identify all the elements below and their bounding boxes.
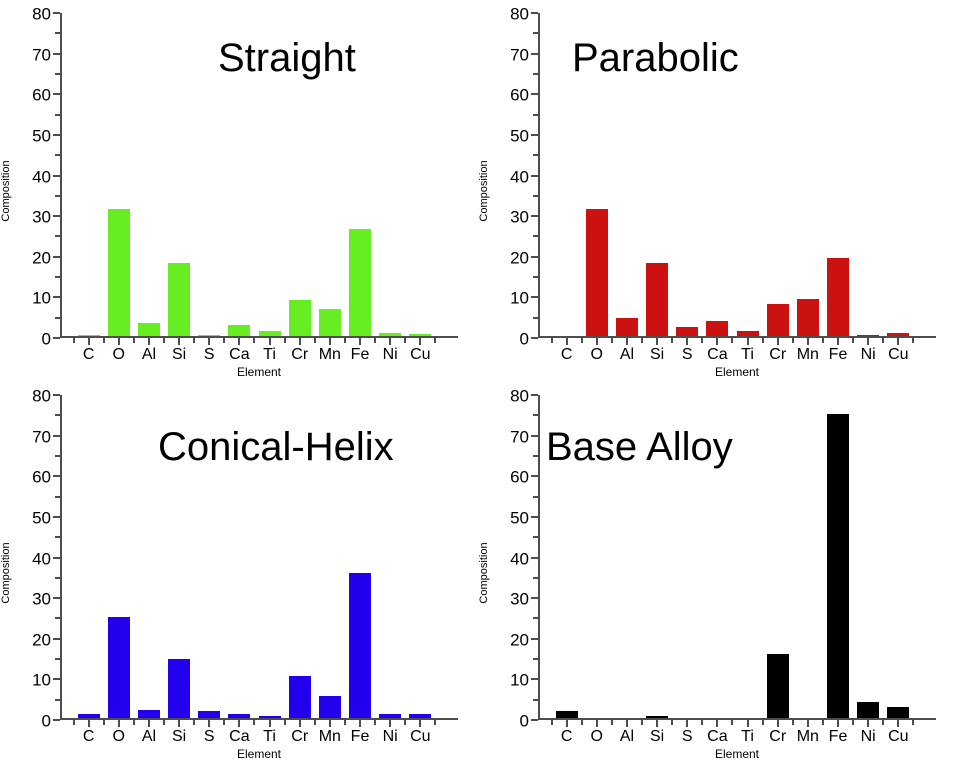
y-axis-tick-label: 0 bbox=[520, 331, 529, 348]
x-axis-category-label: Si bbox=[172, 728, 186, 746]
x-axis-tick-minor bbox=[822, 720, 824, 725]
x-axis-tick-minor bbox=[73, 338, 75, 343]
x-axis-category-label: C bbox=[83, 346, 95, 364]
y-axis-tick-major bbox=[53, 93, 60, 95]
x-axis-category-label: O bbox=[591, 728, 603, 746]
x-axis-tick-minor bbox=[611, 338, 613, 343]
x-axis-tick-major bbox=[897, 338, 899, 345]
y-axis-tick-major bbox=[531, 53, 538, 55]
y-axis-tick-label: 20 bbox=[32, 631, 51, 648]
bar bbox=[319, 309, 341, 336]
x-axis-tick-minor bbox=[284, 720, 286, 725]
x-axis-tick-major bbox=[626, 720, 628, 727]
x-axis-category-label: Ca bbox=[229, 346, 249, 364]
y-axis-tick-label: 40 bbox=[510, 168, 529, 185]
x-axis-tick-minor bbox=[434, 720, 436, 725]
bar bbox=[228, 325, 250, 336]
x-axis-tick-major bbox=[867, 720, 869, 727]
x-axis-category-label: S bbox=[204, 728, 215, 746]
y-axis-tick-label: 10 bbox=[510, 290, 529, 307]
x-axis-tick-minor bbox=[882, 720, 884, 725]
bar bbox=[887, 333, 909, 336]
y-axis-title: Composition bbox=[478, 160, 490, 221]
x-axis-tick-major bbox=[777, 720, 779, 727]
y-axis-tick-major bbox=[53, 175, 60, 177]
x-axis-tick-minor bbox=[551, 338, 553, 343]
y-axis-tick-major bbox=[53, 638, 60, 640]
x-axis-category-label: Ti bbox=[263, 346, 276, 364]
y-axis-tick-label: 40 bbox=[32, 168, 51, 185]
bar bbox=[409, 714, 431, 718]
y-axis-tick-label: 60 bbox=[32, 87, 51, 104]
x-axis-category-label: Fe bbox=[351, 346, 370, 364]
y-axis-tick-major bbox=[53, 337, 60, 339]
y-axis-tick-label: 70 bbox=[510, 46, 529, 63]
bar bbox=[108, 209, 130, 336]
x-axis-tick-major bbox=[716, 720, 718, 727]
figure-four-panel-bar-charts: StraightCompositionElementCOAlSiSCaTiCrM… bbox=[0, 0, 956, 764]
x-axis-tick-minor bbox=[671, 720, 673, 725]
x-axis-tick-major bbox=[208, 720, 210, 727]
x-axis-tick-minor bbox=[701, 338, 703, 343]
x-axis-category-label: Mn bbox=[797, 728, 819, 746]
y-axis-tick-major bbox=[531, 256, 538, 258]
x-axis-category-label: Mn bbox=[797, 346, 819, 364]
bar bbox=[259, 331, 281, 336]
y-axis-tick-major bbox=[531, 93, 538, 95]
x-axis-category-label: Cu bbox=[888, 728, 908, 746]
x-axis-tick-minor bbox=[581, 720, 583, 725]
y-axis-tick-label: 0 bbox=[42, 713, 51, 730]
x-axis-category-label: S bbox=[682, 346, 693, 364]
y-axis-tick-major bbox=[531, 12, 538, 14]
x-axis-tick-major bbox=[329, 720, 331, 727]
y-axis-tick-label: 60 bbox=[510, 469, 529, 486]
y-axis-title: Composition bbox=[478, 542, 490, 603]
bar-series bbox=[60, 13, 458, 336]
y-axis-tick-major bbox=[53, 475, 60, 477]
x-axis-tick-major bbox=[238, 720, 240, 727]
x-axis-category-label: Cr bbox=[291, 728, 308, 746]
y-axis-tick-major bbox=[531, 175, 538, 177]
x-axis-tick-minor bbox=[434, 338, 436, 343]
x-axis-tick-minor bbox=[73, 720, 75, 725]
x-axis-tick-minor bbox=[253, 338, 255, 343]
y-axis-tick-label: 60 bbox=[32, 469, 51, 486]
x-axis-tick-major bbox=[807, 720, 809, 727]
y-axis-tick-label: 80 bbox=[32, 6, 51, 23]
y-axis-tick-major bbox=[53, 256, 60, 258]
bar bbox=[827, 258, 849, 336]
y-axis-tick-major bbox=[531, 337, 538, 339]
panel-straight: StraightCompositionElementCOAlSiSCaTiCrM… bbox=[0, 0, 478, 382]
y-axis-tick-major bbox=[53, 215, 60, 217]
x-axis-category-label: S bbox=[682, 728, 693, 746]
bar bbox=[289, 676, 311, 718]
x-axis-tick-major bbox=[807, 338, 809, 345]
x-axis-category-label: O bbox=[591, 346, 603, 364]
y-axis-tick-major bbox=[53, 394, 60, 396]
y-axis-title: Composition bbox=[0, 542, 12, 603]
x-axis-tick-minor bbox=[792, 720, 794, 725]
y-axis-tick-label: 50 bbox=[510, 509, 529, 526]
x-axis-title: Element bbox=[60, 365, 458, 379]
x-axis-tick-major bbox=[686, 338, 688, 345]
x-axis-tick-minor bbox=[344, 720, 346, 725]
x-axis-category-label: Si bbox=[650, 728, 664, 746]
y-axis-tick-major bbox=[53, 516, 60, 518]
y-axis-tick-major bbox=[531, 475, 538, 477]
x-axis-category-label: Ti bbox=[263, 728, 276, 746]
x-axis-tick-major bbox=[777, 338, 779, 345]
y-axis-tick-label: 0 bbox=[520, 713, 529, 730]
x-axis-category-label: Al bbox=[620, 728, 634, 746]
plot-area: 01020304050607080 bbox=[538, 395, 936, 720]
bar bbox=[108, 617, 130, 718]
x-axis-tick-minor bbox=[731, 338, 733, 343]
y-axis-tick-label: 40 bbox=[32, 550, 51, 567]
x-axis-category-label: Cu bbox=[410, 728, 430, 746]
x-axis-tick-minor bbox=[103, 338, 105, 343]
x-axis-tick-major bbox=[178, 720, 180, 727]
x-axis-category-label: C bbox=[561, 346, 573, 364]
x-axis-category-label: C bbox=[83, 728, 95, 746]
x-axis-tick-major bbox=[148, 720, 150, 727]
x-axis-tick-major bbox=[897, 720, 899, 727]
x-axis-category-label: Ti bbox=[741, 728, 754, 746]
x-axis-category-label: Ni bbox=[861, 346, 876, 364]
y-axis-tick-label: 70 bbox=[32, 46, 51, 63]
x-axis-tick-major bbox=[118, 720, 120, 727]
y-axis-tick-label: 60 bbox=[510, 87, 529, 104]
x-axis-tick-minor bbox=[641, 338, 643, 343]
x-axis-tick-minor bbox=[193, 720, 195, 725]
x-axis-tick-minor bbox=[344, 338, 346, 343]
bar bbox=[409, 334, 431, 336]
x-axis-tick-minor bbox=[133, 720, 135, 725]
y-axis-tick-major bbox=[53, 134, 60, 136]
bar bbox=[887, 707, 909, 718]
x-axis-tick-major bbox=[656, 338, 658, 345]
x-axis-tick-major bbox=[238, 338, 240, 345]
x-axis-tick-minor bbox=[912, 720, 914, 725]
x-axis-tick-major bbox=[88, 338, 90, 345]
x-axis-tick-minor bbox=[374, 720, 376, 725]
y-axis-tick-major bbox=[53, 53, 60, 55]
y-axis-tick-label: 30 bbox=[32, 591, 51, 608]
x-axis-category-label: Ni bbox=[861, 728, 876, 746]
x-axis-category-label: Ca bbox=[707, 728, 727, 746]
x-axis-category-label: Ni bbox=[383, 728, 398, 746]
panel-conical-helix: Conical-HelixCompositionElementCOAlSiSCa… bbox=[0, 382, 478, 764]
y-axis-tick-major bbox=[531, 296, 538, 298]
x-axis-tick-major bbox=[389, 338, 391, 345]
y-axis-tick-major bbox=[531, 557, 538, 559]
x-axis-tick-minor bbox=[762, 720, 764, 725]
x-axis-tick-minor bbox=[641, 720, 643, 725]
bar bbox=[556, 711, 578, 718]
x-axis-tick-minor bbox=[551, 720, 553, 725]
bar bbox=[78, 335, 100, 337]
x-axis-tick-minor bbox=[314, 720, 316, 725]
y-axis-tick-label: 10 bbox=[510, 672, 529, 689]
y-axis-tick-major bbox=[53, 296, 60, 298]
bar bbox=[289, 300, 311, 336]
y-axis-tick-major bbox=[53, 12, 60, 14]
x-axis-tick-minor bbox=[223, 720, 225, 725]
x-axis-tick-major bbox=[566, 338, 568, 345]
x-axis-tick-major bbox=[626, 338, 628, 345]
x-axis-tick-minor bbox=[852, 720, 854, 725]
x-axis-tick-minor bbox=[163, 720, 165, 725]
y-axis-tick-major bbox=[53, 678, 60, 680]
bar bbox=[586, 209, 608, 336]
x-axis-title: Element bbox=[538, 365, 936, 379]
x-axis-tick-major bbox=[419, 720, 421, 727]
y-axis-tick-label: 10 bbox=[32, 290, 51, 307]
x-axis-tick-major bbox=[837, 720, 839, 727]
y-axis-tick-major bbox=[53, 435, 60, 437]
y-axis-tick-major bbox=[531, 597, 538, 599]
x-axis-category-label: Cr bbox=[769, 346, 786, 364]
x-axis-tick-major bbox=[208, 338, 210, 345]
x-axis-tick-minor bbox=[792, 338, 794, 343]
y-axis-tick-label: 70 bbox=[510, 428, 529, 445]
x-axis-category-label: Al bbox=[142, 346, 156, 364]
x-axis-tick-major bbox=[88, 720, 90, 727]
y-axis-tick-label: 20 bbox=[510, 631, 529, 648]
bar bbox=[706, 321, 728, 336]
bar bbox=[379, 714, 401, 718]
y-axis-title: Composition bbox=[0, 160, 12, 221]
plot-area: 01020304050607080 bbox=[60, 395, 458, 720]
x-axis-tick-major bbox=[359, 720, 361, 727]
y-axis-tick-label: 70 bbox=[32, 428, 51, 445]
x-axis-category-label: Fe bbox=[829, 728, 848, 746]
x-axis-category-label: Mn bbox=[319, 346, 341, 364]
bar bbox=[198, 711, 220, 718]
x-axis-category-label: S bbox=[204, 346, 215, 364]
y-axis-tick-major bbox=[53, 597, 60, 599]
bar bbox=[319, 696, 341, 718]
x-axis-tick-major bbox=[747, 720, 749, 727]
x-axis-category-label: Al bbox=[142, 728, 156, 746]
bar bbox=[379, 333, 401, 336]
bar bbox=[767, 304, 789, 336]
y-axis-tick-label: 50 bbox=[32, 509, 51, 526]
x-axis-tick-major bbox=[299, 338, 301, 345]
bar-series bbox=[538, 13, 936, 336]
x-axis-category-label: Ni bbox=[383, 346, 398, 364]
x-axis-tick-major bbox=[867, 338, 869, 345]
y-axis-tick-label: 20 bbox=[32, 249, 51, 266]
bar bbox=[616, 318, 638, 336]
x-axis-tick-minor bbox=[374, 338, 376, 343]
x-axis-category-label: Cu bbox=[888, 346, 908, 364]
x-axis-tick-major bbox=[389, 720, 391, 727]
x-axis-tick-minor bbox=[822, 338, 824, 343]
x-axis-tick-minor bbox=[314, 338, 316, 343]
x-axis-tick-major bbox=[269, 338, 271, 345]
x-axis-category-label: O bbox=[113, 346, 125, 364]
bar bbox=[228, 714, 250, 718]
x-axis-tick-minor bbox=[581, 338, 583, 343]
x-axis-category-label: Cu bbox=[410, 346, 430, 364]
y-axis-tick-label: 30 bbox=[32, 209, 51, 226]
x-axis-tick-minor bbox=[611, 720, 613, 725]
bar bbox=[259, 716, 281, 718]
y-axis-tick-major bbox=[531, 394, 538, 396]
x-axis-tick-minor bbox=[103, 720, 105, 725]
x-axis-tick-minor bbox=[404, 720, 406, 725]
y-axis-tick-label: 50 bbox=[510, 127, 529, 144]
x-axis-tick-major bbox=[299, 720, 301, 727]
x-axis-tick-minor bbox=[852, 338, 854, 343]
x-axis-category-label: Fe bbox=[351, 728, 370, 746]
bar bbox=[349, 573, 371, 718]
x-axis-category-label: Cr bbox=[291, 346, 308, 364]
bar bbox=[138, 710, 160, 718]
y-axis-tick-major bbox=[531, 678, 538, 680]
x-axis-tick-minor bbox=[133, 338, 135, 343]
x-axis-category-label: Cr bbox=[769, 728, 786, 746]
bar bbox=[168, 659, 190, 718]
panel-base-alloy: Base AlloyCompositionElementCOAlSiSCaTiC… bbox=[478, 382, 956, 764]
bar bbox=[646, 716, 668, 718]
x-axis-tick-major bbox=[837, 338, 839, 345]
x-axis-tick-minor bbox=[912, 338, 914, 343]
x-axis-category-label: Si bbox=[650, 346, 664, 364]
bar bbox=[349, 229, 371, 336]
x-axis-category-label: Fe bbox=[829, 346, 848, 364]
x-axis-tick-major bbox=[118, 338, 120, 345]
x-axis-tick-minor bbox=[671, 338, 673, 343]
x-axis-tick-major bbox=[596, 720, 598, 727]
bar bbox=[857, 702, 879, 718]
bar bbox=[767, 654, 789, 718]
bar bbox=[198, 335, 220, 337]
y-axis-tick-major bbox=[53, 557, 60, 559]
bar bbox=[646, 263, 668, 336]
x-axis-tick-minor bbox=[762, 338, 764, 343]
x-axis-category-label: Mn bbox=[319, 728, 341, 746]
x-axis-tick-minor bbox=[882, 338, 884, 343]
x-axis-tick-major bbox=[716, 338, 718, 345]
y-axis-tick-major bbox=[531, 435, 538, 437]
y-axis-tick-label: 30 bbox=[510, 591, 529, 608]
x-axis-tick-minor bbox=[284, 338, 286, 343]
x-axis-tick-minor bbox=[701, 720, 703, 725]
x-axis-category-label: Al bbox=[620, 346, 634, 364]
y-axis-tick-label: 10 bbox=[32, 672, 51, 689]
x-axis-tick-major bbox=[148, 338, 150, 345]
x-axis-tick-minor bbox=[253, 720, 255, 725]
plot-area: 01020304050607080 bbox=[60, 13, 458, 338]
x-axis-tick-major bbox=[269, 720, 271, 727]
bar bbox=[737, 331, 759, 336]
y-axis-tick-major bbox=[531, 516, 538, 518]
x-axis-title: Element bbox=[538, 747, 936, 761]
x-axis-category-label: Si bbox=[172, 346, 186, 364]
x-axis-title: Element bbox=[60, 747, 458, 761]
bar bbox=[78, 714, 100, 718]
x-axis-tick-minor bbox=[731, 720, 733, 725]
x-axis-tick-major bbox=[178, 338, 180, 345]
bar bbox=[857, 335, 879, 337]
x-axis-tick-major bbox=[419, 338, 421, 345]
x-axis-tick-minor bbox=[163, 338, 165, 343]
x-axis-category-label: Ti bbox=[741, 346, 754, 364]
bar bbox=[676, 327, 698, 336]
x-axis-tick-major bbox=[359, 338, 361, 345]
x-axis-tick-major bbox=[656, 720, 658, 727]
x-axis-tick-major bbox=[747, 338, 749, 345]
x-axis-tick-minor bbox=[404, 338, 406, 343]
bar bbox=[797, 299, 819, 336]
bar-series bbox=[538, 395, 936, 718]
y-axis-tick-label: 40 bbox=[510, 550, 529, 567]
x-axis-category-label: C bbox=[561, 728, 573, 746]
y-axis-tick-major bbox=[531, 134, 538, 136]
bar bbox=[138, 323, 160, 336]
x-axis-tick-major bbox=[329, 338, 331, 345]
y-axis-tick-label: 0 bbox=[42, 331, 51, 348]
y-axis-tick-label: 50 bbox=[32, 127, 51, 144]
y-axis-tick-major bbox=[531, 215, 538, 217]
y-axis-tick-major bbox=[531, 638, 538, 640]
y-axis-tick-major bbox=[53, 719, 60, 721]
x-axis-tick-minor bbox=[193, 338, 195, 343]
y-axis-tick-label: 30 bbox=[510, 209, 529, 226]
y-axis-tick-label: 20 bbox=[510, 249, 529, 266]
y-axis-tick-label: 80 bbox=[510, 388, 529, 405]
bar bbox=[168, 263, 190, 336]
plot-area: 01020304050607080 bbox=[538, 13, 936, 338]
bar-series bbox=[60, 395, 458, 718]
y-axis-tick-label: 80 bbox=[32, 388, 51, 405]
x-axis-category-label: Ca bbox=[229, 728, 249, 746]
x-axis-tick-major bbox=[686, 720, 688, 727]
bar bbox=[827, 414, 849, 718]
x-axis-tick-major bbox=[596, 338, 598, 345]
x-axis-category-label: Ca bbox=[707, 346, 727, 364]
panel-parabolic: ParabolicCompositionElementCOAlSiSCaTiCr… bbox=[478, 0, 956, 382]
y-axis-tick-label: 80 bbox=[510, 6, 529, 23]
x-axis-category-label: O bbox=[113, 728, 125, 746]
x-axis-tick-major bbox=[566, 720, 568, 727]
y-axis-tick-major bbox=[531, 719, 538, 721]
x-axis-tick-minor bbox=[223, 338, 225, 343]
